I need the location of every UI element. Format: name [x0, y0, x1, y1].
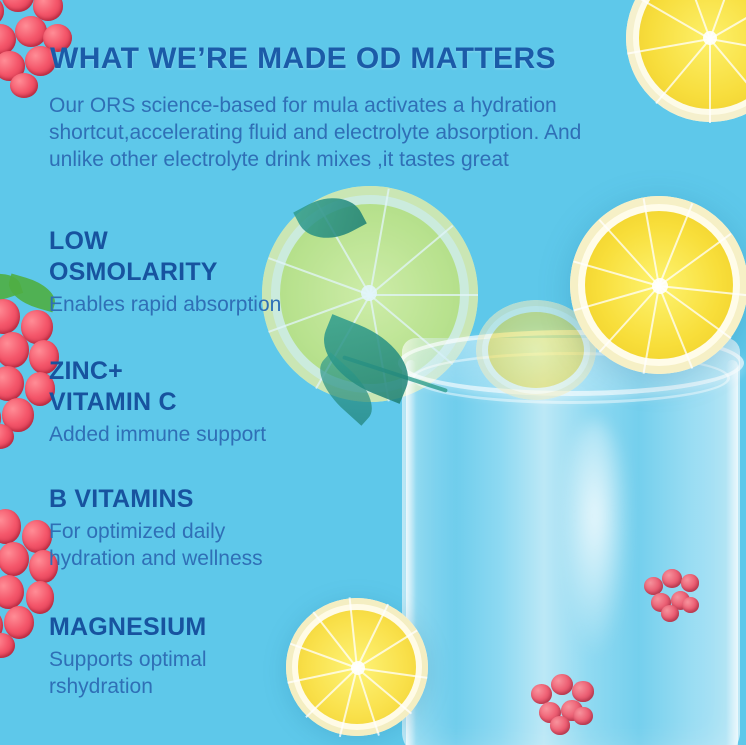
feature-title: ZINC+ VITAMIN C: [49, 356, 266, 418]
intro-paragraph: Our ORS science-based for mula activates…: [49, 92, 639, 173]
feature-low-osmolarity: LOW OSMOLARITY Enables rapid absorption: [49, 226, 281, 318]
feature-title: LOW OSMOLARITY: [49, 226, 281, 288]
poster-text-layer: WHAT WE’RE MADE OD MATTERS Our ORS scien…: [0, 0, 746, 745]
poster-canvas: WHAT WE’RE MADE OD MATTERS Our ORS scien…: [0, 0, 746, 745]
feature-description: Enables rapid absorption: [49, 291, 281, 318]
feature-title: B VITAMINS: [49, 484, 263, 515]
feature-b-vitamins: B VITAMINS For optimized daily hydration…: [49, 484, 263, 572]
feature-magnesium: MAGNESIUM Supports optimal rshydration: [49, 612, 207, 700]
feature-description: For optimized daily hydration and wellne…: [49, 518, 263, 572]
feature-zinc-vitamin-c: ZINC+ VITAMIN C Added immune support: [49, 356, 266, 448]
feature-title: MAGNESIUM: [49, 612, 207, 643]
page-title: WHAT WE’RE MADE OD MATTERS: [50, 42, 556, 76]
feature-description: Supports optimal rshydration: [49, 646, 207, 700]
feature-description: Added immune support: [49, 421, 266, 448]
